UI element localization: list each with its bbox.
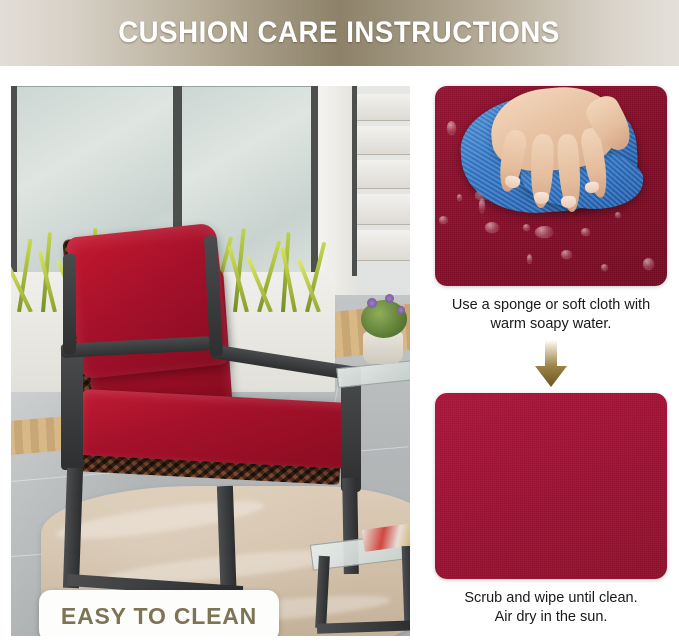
water-droplet [439,216,448,223]
step-2-caption-line2: Air dry in the sun. [435,608,667,627]
header-banner: CUSHION CARE INSTRUCTIONS [0,0,679,66]
stair-step-2 [356,126,410,155]
water-droplet [479,198,485,212]
water-droplet [527,254,532,263]
step-1-caption-line1: Use a sponge or soft cloth with [435,296,667,315]
care-steps-column: Use a sponge or soft cloth with warm soa… [435,86,667,642]
step-2-caption: Scrub and wipe until clean. Air dry in t… [435,589,667,628]
water-droplet [535,226,553,237]
water-droplet [485,222,499,232]
water-droplet [615,212,621,217]
page-title: CUSHION CARE INSTRUCTIONS [119,16,561,50]
stair-step-1 [356,94,410,121]
easy-to-clean-label: EASY TO CLEAN [61,603,257,630]
step-2-caption-line1: Scrub and wipe until clean. [435,589,667,608]
chair-seat-cushion [79,389,350,469]
water-droplet [523,224,530,230]
stair-step-4 [356,194,410,225]
stair-step-5 [356,230,410,261]
water-droplet [601,264,608,270]
water-droplet [457,194,462,200]
chair-arm-left [61,348,83,470]
step-arrow-wrap [435,335,667,393]
stair-step-3 [356,160,410,189]
water-droplet [581,228,590,235]
step-2-photo [435,393,667,579]
water-droplet [561,250,572,258]
easy-to-clean-badge: EASY TO CLEAN [39,590,279,636]
chair-backrest-post-left [63,254,76,354]
plant-flower [367,298,377,308]
stair-rail [352,86,357,276]
plant-flower [385,294,394,303]
fingernail [534,192,549,204]
step-1-caption: Use a sponge or soft cloth with warm soa… [435,296,667,335]
step-1-photo [435,86,667,286]
arrow-down-icon [534,340,568,388]
step-1-caption-line2: warm soapy water. [435,315,667,334]
hero-product-photo: EASY TO CLEAN [11,86,410,636]
water-droplet [643,258,654,269]
content-stage: EASY TO CLEAN [0,66,679,642]
water-droplet [447,121,456,134]
plant-flower [397,306,405,314]
